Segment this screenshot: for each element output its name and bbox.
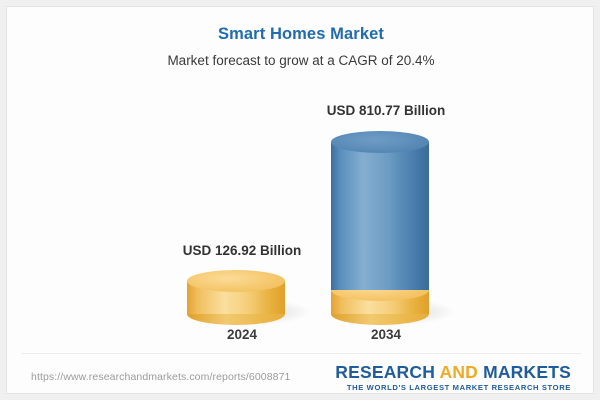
brand-logo[interactable]: RESEARCH AND MARKETS THE WORLD'S LARGEST… xyxy=(335,363,571,392)
logo-wordmark: RESEARCH AND MARKETS xyxy=(335,363,571,381)
chart-card: Smart Homes Market Market forecast to gr… xyxy=(6,6,594,394)
logo-word-and: AND xyxy=(439,362,478,382)
bar-value-label-2034: USD 810.77 Billion xyxy=(276,103,496,118)
logo-tagline: THE WORLD'S LARGEST MARKET RESEARCH STOR… xyxy=(335,383,571,392)
cylinder-top-2024 xyxy=(187,270,285,292)
bar-category-label-2034: 2034 xyxy=(276,327,496,342)
logo-word-research: RESEARCH xyxy=(335,362,435,382)
source-url[interactable]: https://www.researchandmarkets.com/repor… xyxy=(31,371,290,383)
cylinder-top-2034 xyxy=(331,131,429,153)
footer-divider xyxy=(21,353,581,354)
cylinder-body-2034 xyxy=(331,142,429,290)
bar-2034[interactable]: USD 810.77 Billion 2034 xyxy=(276,7,496,347)
chart-plot-area: USD 126.92 Billion 2024 USD 810.77 Billi… xyxy=(7,7,594,347)
logo-word-markets: MARKETS xyxy=(483,362,571,382)
